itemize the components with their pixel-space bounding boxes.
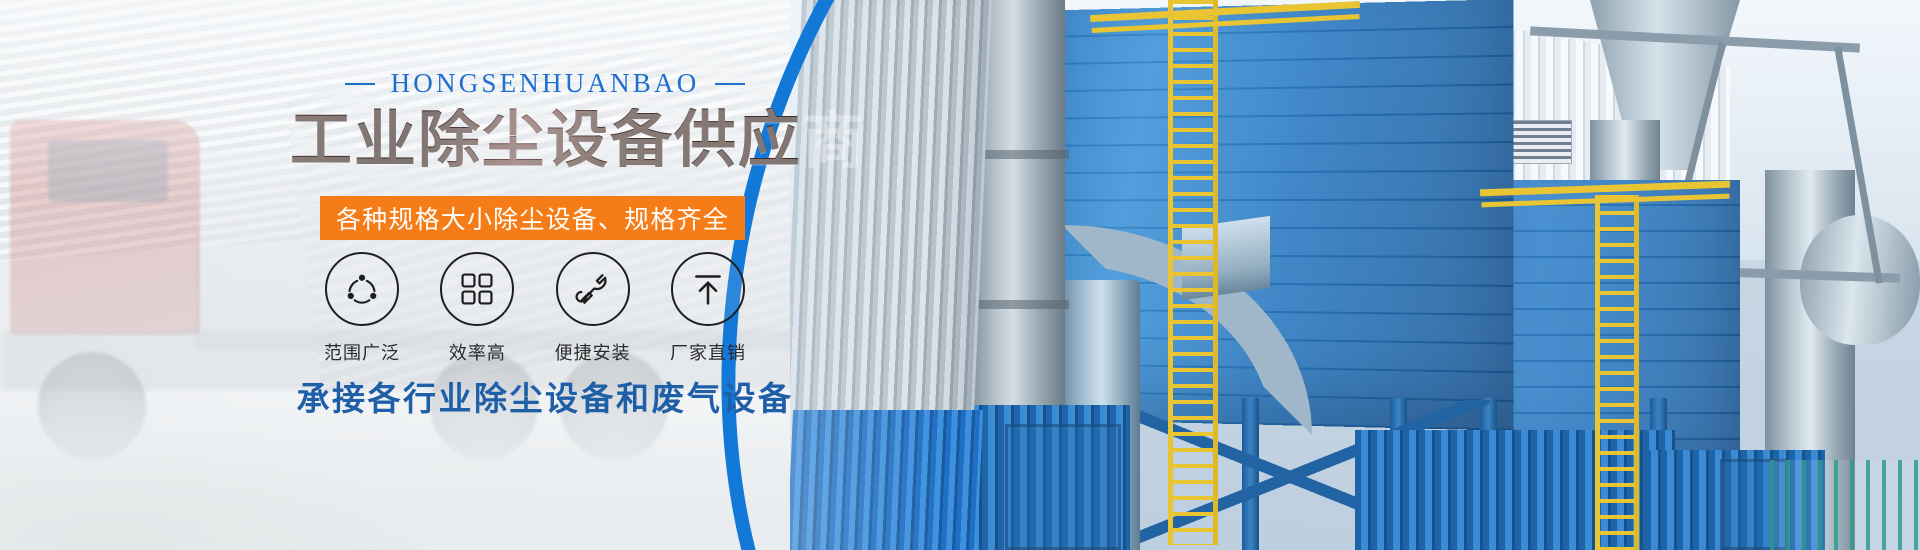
brand-eyebrow: HONGSENHUANBAO (310, 68, 780, 99)
feature-item-factory-direct[interactable]: 厂家直销 (656, 252, 760, 365)
eyebrow-text: HONGSENHUANBAO (391, 68, 700, 99)
feature-label: 范围广泛 (324, 339, 400, 365)
eyebrow-dash-left (345, 83, 375, 85)
page-title: 工业除尘设备供应商 (290, 108, 800, 175)
yellow-ladder-cage-shape (1168, 0, 1218, 545)
feature-item-installation[interactable]: 便捷安装 (541, 252, 645, 365)
feature-label: 厂家直销 (670, 339, 746, 365)
wrench-icon (556, 252, 630, 326)
highlight-bar: 各种规格大小除尘设备、规格齐全 (320, 196, 745, 240)
feature-label: 便捷安装 (555, 339, 631, 365)
feature-item-efficiency[interactable]: 效率高 (425, 252, 529, 365)
banner-content: HONGSENHUANBAO 工业除尘设备供应商 各种规格大小除尘设备、规格齐全 (0, 0, 820, 550)
feature-label: 效率高 (449, 339, 506, 365)
yellow-ladder-cage-shape (1595, 195, 1639, 550)
highlight-bar-text: 各种规格大小除尘设备、规格齐全 (336, 200, 729, 236)
equipment-photo (790, 0, 1920, 550)
green-fence-shape (1770, 460, 1920, 550)
access-door-shape (1005, 424, 1121, 550)
grid-squares-icon (440, 252, 514, 326)
arrow-up-bar-icon (671, 252, 745, 326)
stack-band-shape (966, 300, 1069, 309)
hero-banner: HONGSENHUANBAO 工业除尘设备供应商 各种规格大小除尘设备、规格齐全 (0, 0, 1920, 550)
feature-list: 范围广泛 效率高 (310, 252, 760, 365)
share-network-icon (325, 252, 399, 326)
eyebrow-dash-right (715, 83, 745, 85)
feature-item-coverage[interactable]: 范围广泛 (310, 252, 414, 365)
banner-tagline: 承接各行业除尘设备和废气设备 (290, 372, 800, 420)
